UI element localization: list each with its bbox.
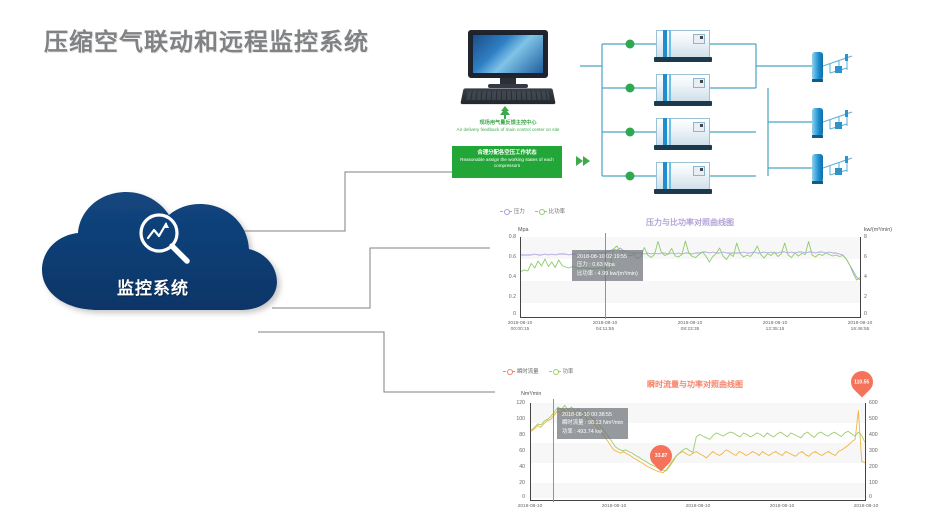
assign-states-callout: 合理分配各空压工作状态 Reasonable assign the workin… bbox=[452, 146, 562, 178]
x-axis-line bbox=[520, 317, 861, 318]
y-tick: 0.8 bbox=[498, 234, 516, 240]
x-tick: 2018-08-10 bbox=[754, 504, 810, 510]
chart-tooltip: 2018-08-10 00:38:55 瞬时流量 : 98.13 Nm³/min… bbox=[557, 408, 628, 439]
y-tick: 100 bbox=[503, 416, 525, 422]
compressor-base bbox=[654, 57, 712, 62]
assign-states-cn: 合理分配各空压工作状态 bbox=[452, 150, 562, 157]
x-tick: 2018-08-10 00:00:15 bbox=[492, 321, 548, 333]
max-value-label: 110.55 bbox=[854, 379, 869, 385]
desktop-computer-icon bbox=[462, 30, 554, 106]
flow-power-chart: 瞬时流量 功率 瞬时流量与功率对照曲线图 Nm³/min 120 100 80 … bbox=[495, 365, 895, 529]
y2-tick: 4 bbox=[864, 274, 878, 280]
compressor-unit[interactable] bbox=[656, 116, 710, 150]
compressor-indicator bbox=[700, 36, 703, 39]
compressor-stripe bbox=[663, 162, 667, 190]
y2-tick: 100 bbox=[869, 480, 887, 486]
y2-tick: 500 bbox=[869, 416, 887, 422]
plot-band bbox=[520, 303, 860, 315]
tooltip-line-2: 比功率 : 4.99 kw/(m³/min) bbox=[577, 270, 638, 278]
chart-title: 压力与比功率对照曲线图 bbox=[590, 217, 790, 228]
diagram-caption: 现场用气量反馈主控中心 Air delivery feedback of mai… bbox=[446, 120, 570, 132]
x-tick: 2018-08-10 04:11:55 bbox=[577, 321, 633, 333]
compressor-unit[interactable] bbox=[656, 28, 710, 62]
chart-title: 瞬时流量与功率对照曲线图 bbox=[595, 379, 795, 390]
max-value-marker[interactable]: 110.55 bbox=[846, 366, 877, 397]
tooltip-line-2: 功率 : 493.74 kw bbox=[562, 428, 623, 436]
y2-tick: 8 bbox=[864, 234, 878, 240]
plot-band bbox=[530, 483, 865, 498]
y2-tick: 300 bbox=[869, 448, 887, 454]
compressor-unit[interactable] bbox=[656, 160, 710, 194]
tooltip-line-1: 瞬时流量 : 98.13 Nm³/min bbox=[562, 419, 623, 427]
compressor-indicator bbox=[700, 168, 703, 171]
compressor-unit[interactable] bbox=[656, 72, 710, 106]
tank-piping bbox=[812, 104, 858, 142]
compressor-control-panel bbox=[693, 166, 705, 176]
compressor-indicator bbox=[700, 80, 703, 83]
keyboard-icon bbox=[460, 88, 555, 104]
x-tick: 2018-08-10 bbox=[670, 504, 726, 510]
compressor-control-panel bbox=[693, 78, 705, 88]
legend-label: 压力 bbox=[514, 207, 525, 215]
y-axis-line bbox=[530, 403, 531, 500]
plot-band bbox=[520, 281, 860, 303]
tooltip-time: 2018-08-10 02:19:55 bbox=[577, 253, 638, 261]
compressor-indicator bbox=[700, 124, 703, 127]
y-tick: 0 bbox=[503, 494, 525, 500]
slide-root: 压缩空气联动和远程监控系统 bbox=[0, 0, 945, 529]
x-tick: 2018-08-10 12:35:15 bbox=[747, 321, 803, 333]
legend-item[interactable]: 功率 bbox=[549, 367, 574, 375]
legend-item[interactable]: 比功率 bbox=[535, 207, 565, 215]
monitor-screen bbox=[468, 30, 548, 78]
compressor-stripe bbox=[663, 118, 667, 146]
legend-marker-icon bbox=[503, 368, 515, 374]
piping-network bbox=[580, 18, 940, 208]
y2-axis-line bbox=[860, 237, 861, 317]
legend-label: 瞬时流量 bbox=[517, 367, 539, 375]
chart-tooltip: 2018-08-10 02:19:55 压力 : 0.63 Mpa 比功率 : … bbox=[572, 250, 643, 281]
monitor-screen-image bbox=[473, 35, 543, 73]
x-tick: 2018-08-10 bbox=[838, 504, 894, 510]
compressor-control-panel bbox=[693, 122, 705, 132]
x-tick: 2018-08-10 bbox=[586, 504, 642, 510]
plot-band bbox=[530, 463, 865, 483]
legend-item[interactable]: 压力 bbox=[500, 207, 525, 215]
y2-tick: 2 bbox=[864, 294, 878, 300]
y2-axis-unit: kw/(m³/min) bbox=[864, 227, 892, 233]
legend-label: 比功率 bbox=[549, 207, 565, 215]
x-axis-line bbox=[530, 500, 866, 501]
y-axis-line bbox=[520, 237, 521, 317]
tooltip-time: 2018-08-10 00:38:55 bbox=[562, 411, 623, 419]
legend-marker-icon bbox=[549, 368, 561, 374]
y-tick: 120 bbox=[503, 400, 525, 406]
legend-marker-icon bbox=[500, 208, 512, 214]
y2-tick: 600 bbox=[869, 400, 887, 406]
tank-piping bbox=[812, 150, 858, 188]
diagram-caption-en: Air delivery feedback of main control ce… bbox=[446, 127, 570, 133]
y2-axis-line bbox=[865, 403, 866, 500]
legend-item[interactable]: 瞬时流量 bbox=[503, 367, 539, 375]
compressor-base bbox=[654, 145, 712, 150]
tank-piping bbox=[812, 48, 858, 86]
keyboard-keys bbox=[466, 91, 549, 100]
compressor-base bbox=[654, 101, 712, 106]
assign-states-en: Reasonable assign the working states of … bbox=[452, 157, 562, 169]
y-tick: 80 bbox=[503, 432, 525, 438]
y2-tick: 200 bbox=[869, 464, 887, 470]
y-axis-unit: Mpa bbox=[518, 227, 529, 233]
y-tick: 0.6 bbox=[498, 254, 516, 260]
x-tick: 2018-08-10 16:46:55 bbox=[832, 321, 888, 333]
monitoring-system-cloud[interactable]: 监控系统 bbox=[28, 182, 288, 332]
compressor-status-dots bbox=[626, 40, 635, 181]
air-tank-unit[interactable] bbox=[812, 104, 858, 142]
chart-legend: 瞬时流量 功率 bbox=[503, 367, 573, 375]
cloud-label: 监控系统 bbox=[28, 274, 278, 299]
compressor-base bbox=[654, 189, 712, 194]
min-value-label: 33.87 bbox=[655, 453, 668, 459]
plot-band bbox=[530, 443, 865, 463]
plot-band bbox=[520, 259, 860, 281]
y-tick: 60 bbox=[503, 448, 525, 454]
compressed-air-network-diagram: 现场用气量反馈主控中心 Air delivery feedback of mai… bbox=[440, 18, 940, 208]
y-tick: 40 bbox=[503, 464, 525, 470]
y2-tick: 400 bbox=[869, 432, 887, 438]
y-tick: 0.4 bbox=[498, 274, 516, 280]
y-tick: 0.2 bbox=[498, 294, 516, 300]
y2-tick: 0 bbox=[864, 311, 878, 317]
y-tick: 20 bbox=[503, 480, 525, 486]
pressure-specific-power-chart: 压力 比功率 压力与比功率对照曲线图 Mpa kw/(m³/min) 0.8 0… bbox=[490, 205, 890, 335]
y-axis-unit: Nm³/min bbox=[521, 391, 541, 397]
y2-tick: 6 bbox=[864, 254, 878, 260]
legend-label: 功率 bbox=[563, 367, 574, 375]
tooltip-line-1: 压力 : 0.63 Mpa bbox=[577, 261, 638, 269]
x-tick: 2018-08-10 08:23:35 bbox=[662, 321, 718, 333]
compressor-stripe-light bbox=[669, 74, 671, 102]
compressor-stripe-light bbox=[669, 162, 671, 190]
air-tank-unit[interactable] bbox=[812, 48, 858, 86]
compressor-stripe bbox=[663, 30, 667, 58]
compressor-control-panel bbox=[693, 34, 705, 44]
y-tick: 0 bbox=[498, 311, 516, 317]
y2-tick: 0 bbox=[869, 494, 887, 500]
x-tick: 2018-08-10 bbox=[502, 504, 558, 510]
cursor-line[interactable] bbox=[553, 399, 554, 502]
magnifier-chart-icon bbox=[136, 210, 194, 273]
chart-legend: 压力 比功率 bbox=[500, 207, 565, 215]
legend-marker-icon bbox=[535, 208, 547, 214]
air-tank-unit[interactable] bbox=[812, 150, 858, 188]
compressor-stripe-light bbox=[669, 118, 671, 146]
compressor-stripe bbox=[663, 74, 667, 102]
compressor-stripe-light bbox=[669, 30, 671, 58]
plot-band bbox=[520, 237, 860, 259]
